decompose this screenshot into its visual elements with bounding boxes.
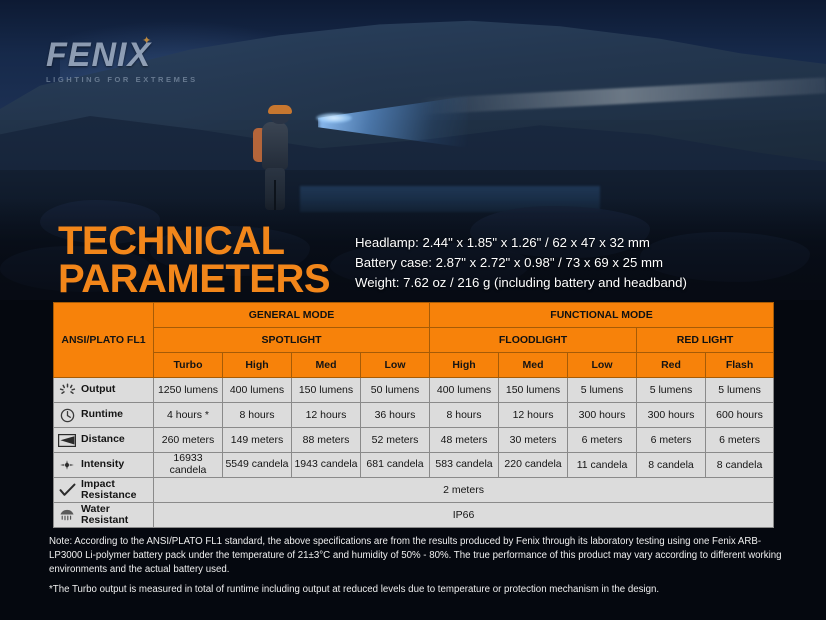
spec-table-wrapper: ANSI/PLATO FL1 GENERAL MODE FUNCTIONAL M… (53, 302, 773, 528)
cell: 5549 candela (223, 453, 292, 478)
level-spot-med: Med (292, 353, 361, 378)
row-label-text: Distance (81, 434, 125, 445)
cell: 400 lumens (430, 378, 499, 403)
level-flash: Flash (706, 353, 774, 378)
row-label-text: Output (81, 384, 115, 395)
dimension-specs: Headlamp: 2.44" x 1.85" x 1.26" / 62 x 4… (355, 233, 687, 293)
cell: 12 hours (499, 403, 568, 428)
cell: 6 meters (637, 428, 706, 453)
beam-group-spotlight: SPOTLIGHT (154, 328, 430, 353)
level-turbo: Turbo (154, 353, 223, 378)
light-burst-icon (58, 382, 76, 398)
row-label-runtime: Runtime (54, 403, 154, 428)
table-row: Intensity 16933 candela 5549 candela 194… (54, 453, 774, 478)
page-title: TECHNICAL PARAMETERS (58, 222, 330, 299)
row-label-distance: Distance (54, 428, 154, 453)
cell: 1250 lumens (154, 378, 223, 403)
level-spot-low: Low (361, 353, 430, 378)
logo-wordmark: FENIX (46, 38, 216, 72)
clock-icon (58, 407, 76, 423)
product-spec-sheet: ✦ FENIX LIGHTING FOR EXTREMES TECHNICAL … (0, 0, 826, 620)
cell: 5 lumens (568, 378, 637, 403)
cell: 8 hours (223, 403, 292, 428)
specification-table: ANSI/PLATO FL1 GENERAL MODE FUNCTIONAL M… (53, 302, 774, 528)
title-line-2: PARAMETERS (58, 260, 330, 298)
cell: 300 hours (568, 403, 637, 428)
spec-headlamp: Headlamp: 2.44" x 1.85" x 1.26" / 62 x 4… (355, 233, 687, 253)
water-drop-icon (58, 507, 76, 523)
cell: 600 hours (706, 403, 774, 428)
logo-tagline: LIGHTING FOR EXTREMES (46, 75, 216, 84)
cell: 4 hours * (154, 403, 223, 428)
table-row: Distance 260 meters 149 meters 88 meters… (54, 428, 774, 453)
cell: 1943 candela (292, 453, 361, 478)
cell: 11 candela (568, 453, 637, 478)
cell: 5 lumens (706, 378, 774, 403)
level-red: Red (637, 353, 706, 378)
cell: 8 candela (706, 453, 774, 478)
cell: 12 hours (292, 403, 361, 428)
level-flood-med: Med (499, 353, 568, 378)
cell: 8 candela (637, 453, 706, 478)
table-row: Impact Resistance 2 meters (54, 478, 774, 503)
cell: 150 lumens (499, 378, 568, 403)
row-label-text-line2: Resistant (81, 515, 128, 526)
cell: 220 candela (499, 453, 568, 478)
cell: 400 lumens (223, 378, 292, 403)
level-flood-low: Low (568, 353, 637, 378)
row-label-intensity: Intensity (54, 453, 154, 478)
cell: 6 meters (706, 428, 774, 453)
cell: 681 candela (361, 453, 430, 478)
intensity-crosshair-icon (58, 457, 76, 473)
cell: 48 meters (430, 428, 499, 453)
level-spot-high: High (223, 353, 292, 378)
spec-battery-case: Battery case: 2.87" x 2.72" x 0.98" / 73… (355, 253, 687, 273)
table-header-level-row: Turbo High Med Low High Med Low Red Flas… (54, 353, 774, 378)
cell: 8 hours (430, 403, 499, 428)
table-row: Runtime 4 hours * 8 hours 12 hours 36 ho… (54, 403, 774, 428)
beam-group-floodlight: FLOODLIGHT (430, 328, 637, 353)
check-impact-icon (58, 482, 76, 498)
person-body (262, 122, 288, 170)
cell: 300 hours (637, 403, 706, 428)
row-label-text: Runtime (81, 409, 123, 420)
beam-group-redlight: RED LIGHT (637, 328, 774, 353)
footnote-turbo: *The Turbo output is measured in total o… (49, 583, 784, 597)
mode-group-functional: FUNCTIONAL MODE (430, 303, 774, 328)
title-line-1: TECHNICAL (58, 222, 330, 260)
fenix-logo: ✦ FENIX LIGHTING FOR EXTREMES (46, 38, 216, 84)
cell: 583 candela (430, 453, 499, 478)
row-label-water-resistant: Water Resistant (54, 503, 154, 528)
cell: 30 meters (499, 428, 568, 453)
footnote-main: Note: According to the ANSI/PLATO FL1 st… (49, 535, 784, 576)
row-label-output: Output (54, 378, 154, 403)
cell: 50 lumens (361, 378, 430, 403)
cell: 5 lumens (637, 378, 706, 403)
cell: 150 lumens (292, 378, 361, 403)
cell: 36 hours (361, 403, 430, 428)
cell: 149 meters (223, 428, 292, 453)
spec-weight: Weight: 7.62 oz / 216 g (including batte… (355, 273, 687, 293)
table-row: Output 1250 lumens 400 lumens 150 lumens… (54, 378, 774, 403)
cell: 6 meters (568, 428, 637, 453)
cell: 16933 candela (154, 453, 223, 478)
table-row: Water Resistant IP66 (54, 503, 774, 528)
headlamp-beam-core (316, 113, 352, 123)
cell-water-value: IP66 (154, 503, 774, 528)
row-label-text-line2: Resistance (81, 490, 136, 501)
table-header-beam-row: SPOTLIGHT FLOODLIGHT RED LIGHT (54, 328, 774, 353)
row-label-impact-resistance: Impact Resistance (54, 478, 154, 503)
mode-group-general: GENERAL MODE (154, 303, 430, 328)
cell: 88 meters (292, 428, 361, 453)
footnote-block: Note: According to the ANSI/PLATO FL1 st… (49, 535, 784, 597)
ansi-standard-cell: ANSI/PLATO FL1 (54, 303, 154, 378)
helmet-headlamp (268, 105, 292, 114)
level-flood-high: High (430, 353, 499, 378)
cell-impact-value: 2 meters (154, 478, 774, 503)
beam-distance-icon (58, 432, 76, 448)
table-header-mode-row: ANSI/PLATO FL1 GENERAL MODE FUNCTIONAL M… (54, 303, 774, 328)
cell: 52 meters (361, 428, 430, 453)
cell: 260 meters (154, 428, 223, 453)
row-label-text: Intensity (81, 459, 124, 470)
person-with-headlamp (252, 106, 298, 210)
